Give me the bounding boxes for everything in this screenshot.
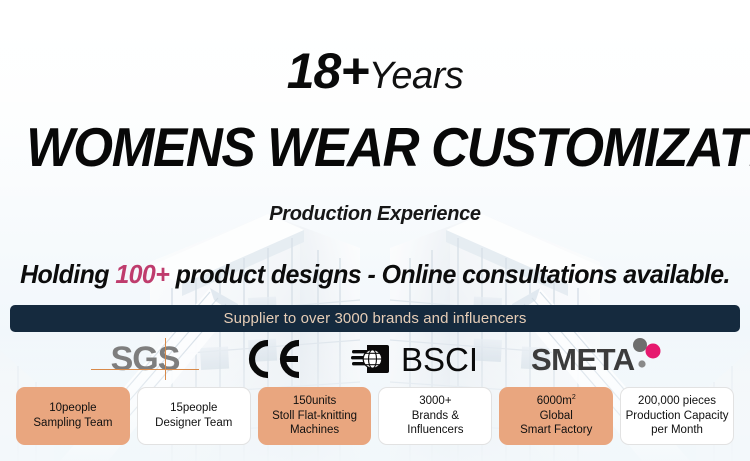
stat-line: Smart Factory <box>520 423 592 438</box>
stat-box-knitting-machines: 150units Stoll Flat-knitting Machines <box>258 387 372 445</box>
stat-line: Influencers <box>407 423 463 438</box>
years-headline: 18+Years <box>0 46 750 96</box>
stat-line: Designer Team <box>155 416 232 431</box>
stat-box-smart-factory: 6000m2 Global Smart Factory <box>499 387 613 445</box>
sgs-crosshair-horizontal-icon <box>91 369 199 370</box>
stat-box-designer-team: 15people Designer Team <box>137 387 251 445</box>
stat-box-production-capacity: 200,000 pieces Production Capacity per M… <box>620 387 734 445</box>
holding-prefix: Holding <box>20 259 115 289</box>
stat-line: Stoll Flat-knitting <box>272 409 357 424</box>
bsci-logo: BSCI <box>351 336 487 382</box>
stat-line: Brands & <box>412 409 459 424</box>
bsci-logo-text: BSCI <box>401 343 478 376</box>
smeta-dots-icon <box>627 337 661 371</box>
years-number: 18+ <box>287 43 369 99</box>
stat-line: Sampling Team <box>33 416 112 431</box>
subtitle: Production Experience <box>0 203 750 226</box>
sgs-logo-text: SGS <box>111 342 180 376</box>
holding-designs-line: Holding 100+ product designs - Online co… <box>15 259 735 290</box>
stat-line: Production Capacity <box>626 409 729 424</box>
stat-area-value: 6000m <box>537 395 572 407</box>
sgs-crosshair-vertical-icon <box>165 338 166 380</box>
stat-line: 150units <box>293 394 336 409</box>
smeta-logo: SMETA <box>531 336 657 382</box>
supplier-banner-bar: Supplier to over 3000 brands and influen… <box>10 305 740 332</box>
stat-line: per Month <box>651 423 703 438</box>
promo-banner: 18+Years WOMENS WEAR CUSTOMIZATION Produ… <box>0 0 750 461</box>
holding-suffix: product designs - Online consultations a… <box>169 259 730 289</box>
supplier-banner-text: Supplier to over 3000 brands and influen… <box>224 310 527 327</box>
stat-line: 10people <box>49 401 96 416</box>
smeta-logo-text: SMETA <box>531 344 635 375</box>
sgs-logo: SGS <box>93 336 197 382</box>
years-word: Years <box>369 55 464 97</box>
bsci-hand-globe-icon <box>351 343 395 375</box>
stat-box-sampling-team: 10people Sampling Team <box>16 387 130 445</box>
stat-area-superscript: 2 <box>572 394 576 401</box>
ce-mark-icon <box>241 336 307 382</box>
page-title: WOMENS WEAR CUSTOMIZATION <box>26 118 724 177</box>
stat-line: 200,000 pieces <box>638 394 716 409</box>
stat-line: Machines <box>290 423 339 438</box>
stat-line: 3000+ <box>419 394 451 409</box>
certification-logo-row: SGS <box>0 336 750 382</box>
holding-highlight: 100+ <box>115 259 169 289</box>
stat-box-brands-influencers: 3000+ Brands & Influencers <box>378 387 492 445</box>
stat-line-area: 6000m2 <box>537 394 576 409</box>
stat-line: 15people <box>170 401 217 416</box>
stat-box-row: 10people Sampling Team 15people Designer… <box>16 387 734 445</box>
stat-line: Global <box>540 409 573 424</box>
